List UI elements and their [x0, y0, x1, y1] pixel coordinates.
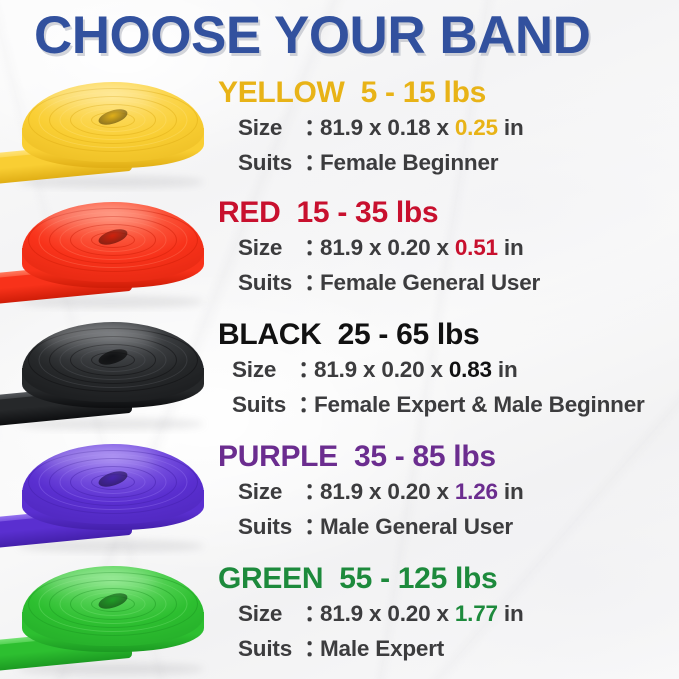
suits-label: Suits	[238, 638, 304, 661]
band-suits-line-green: Suits：Male Expert	[238, 638, 444, 661]
band-weight-range: 15 - 35 lbs	[297, 196, 439, 229]
choose-your-band-infographic: CHOOSE YOUR BAND YELLOW 5 - 15 lbs Size：…	[0, 0, 679, 679]
band-size-line-green: Size：81.9 x 0.20 x 1.77 in	[238, 603, 524, 626]
coiled-band-illustration-green	[0, 556, 212, 679]
size-prefix: 81.9 x 0.18 x	[320, 115, 449, 140]
coiled-band-illustration-black	[0, 312, 212, 434]
separator-colon: ：	[304, 272, 320, 295]
band-image-black	[0, 312, 212, 434]
band-text-purple: PURPLE 35 - 85 lbs Size：81.9 x 0.20 x 1.…	[212, 434, 679, 556]
page-title: CHOOSE YOUR BAND	[34, 9, 674, 62]
size-thickness-highlight: 0.51	[455, 235, 498, 260]
separator-colon: ：	[304, 152, 320, 175]
band-image-yellow	[0, 72, 212, 192]
size-prefix: 81.9 x 0.20 x	[314, 357, 443, 382]
band-heading-red: RED 15 - 35 lbs	[218, 198, 438, 228]
size-label: Size	[238, 117, 304, 140]
band-suits-line-red: Suits：Female General User	[238, 272, 540, 295]
size-thickness-highlight: 0.25	[455, 115, 498, 140]
size-thickness-highlight: 1.26	[455, 479, 498, 504]
band-suits-line-purple: Suits：Male General User	[238, 516, 513, 539]
band-row-yellow: YELLOW 5 - 15 lbs Size：81.9 x 0.18 x 0.2…	[0, 72, 679, 192]
separator-colon: ：	[304, 237, 320, 260]
band-row-black: BLACK 25 - 65 lbs Size：81.9 x 0.20 x 0.8…	[0, 312, 679, 434]
band-size-line-purple: Size：81.9 x 0.20 x 1.26 in	[238, 481, 524, 504]
band-heading-green: GREEN 55 - 125 lbs	[218, 564, 497, 594]
band-row-green: GREEN 55 - 125 lbs Size：81.9 x 0.20 x 1.…	[0, 556, 679, 679]
suits-label: Suits	[232, 394, 298, 417]
size-unit: in	[504, 115, 524, 140]
separator-colon: ：	[304, 117, 320, 140]
band-coil-body	[22, 444, 204, 524]
separator-colon: ：	[304, 516, 320, 539]
size-label: Size	[232, 359, 298, 382]
size-prefix: 81.9 x 0.20 x	[320, 235, 449, 260]
suits-value: Male General User	[320, 514, 513, 539]
size-thickness-highlight: 0.83	[449, 357, 492, 382]
band-text-black: BLACK 25 - 65 lbs Size：81.9 x 0.20 x 0.8…	[212, 312, 679, 434]
size-prefix: 81.9 x 0.20 x	[320, 601, 449, 626]
band-weight-range: 5 - 15 lbs	[361, 76, 486, 109]
band-row-red: RED 15 - 35 lbs Size：81.9 x 0.20 x 0.51 …	[0, 192, 679, 312]
size-label: Size	[238, 603, 304, 626]
band-name: GREEN	[218, 562, 323, 595]
size-unit: in	[504, 235, 524, 260]
separator-colon: ：	[304, 481, 320, 504]
band-suits-line-black: Suits：Female Expert & Male Beginner	[232, 394, 645, 417]
size-label: Size	[238, 237, 304, 260]
band-coil-body	[22, 322, 204, 402]
band-name: BLACK	[218, 318, 322, 351]
coiled-band-illustration-yellow	[0, 72, 212, 192]
band-heading-black: BLACK 25 - 65 lbs	[218, 320, 479, 350]
band-image-red	[0, 192, 212, 312]
band-text-red: RED 15 - 35 lbs Size：81.9 x 0.20 x 0.51 …	[212, 192, 679, 312]
coiled-band-illustration-red	[0, 192, 212, 312]
band-size-line-yellow: Size：81.9 x 0.18 x 0.25 in	[238, 117, 524, 140]
band-row-purple: PURPLE 35 - 85 lbs Size：81.9 x 0.20 x 1.…	[0, 434, 679, 556]
suits-value: Female Expert & Male Beginner	[314, 392, 645, 417]
band-suits-line-yellow: Suits：Female Beginner	[238, 152, 498, 175]
band-coil-body	[22, 566, 204, 646]
band-name: YELLOW	[218, 76, 345, 109]
band-image-purple	[0, 434, 212, 556]
band-weight-range: 55 - 125 lbs	[339, 562, 497, 595]
band-name: RED	[218, 196, 280, 229]
separator-colon: ：	[298, 359, 314, 382]
suits-label: Suits	[238, 516, 304, 539]
coiled-band-illustration-purple	[0, 434, 212, 556]
band-weight-range: 35 - 85 lbs	[354, 440, 496, 473]
size-label: Size	[238, 481, 304, 504]
band-coil-body	[22, 202, 204, 282]
band-image-green	[0, 556, 212, 679]
size-thickness-highlight: 1.77	[455, 601, 498, 626]
suits-value: Female General User	[320, 270, 540, 295]
suits-value: Female Beginner	[320, 150, 498, 175]
size-unit: in	[498, 357, 518, 382]
band-name: PURPLE	[218, 440, 338, 473]
band-text-yellow: YELLOW 5 - 15 lbs Size：81.9 x 0.18 x 0.2…	[212, 72, 679, 192]
band-weight-range: 25 - 65 lbs	[338, 318, 480, 351]
separator-colon: ：	[298, 394, 314, 417]
band-size-line-black: Size：81.9 x 0.20 x 0.83 in	[232, 359, 518, 382]
suits-label: Suits	[238, 272, 304, 295]
separator-colon: ：	[304, 603, 320, 626]
size-prefix: 81.9 x 0.20 x	[320, 479, 449, 504]
band-heading-yellow: YELLOW 5 - 15 lbs	[218, 78, 486, 108]
band-size-line-red: Size：81.9 x 0.20 x 0.51 in	[238, 237, 524, 260]
suits-label: Suits	[238, 152, 304, 175]
band-text-green: GREEN 55 - 125 lbs Size：81.9 x 0.20 x 1.…	[212, 556, 679, 679]
size-unit: in	[504, 479, 524, 504]
band-heading-purple: PURPLE 35 - 85 lbs	[218, 442, 496, 472]
size-unit: in	[504, 601, 524, 626]
separator-colon: ：	[304, 638, 320, 661]
band-coil-body	[22, 82, 204, 162]
suits-value: Male Expert	[320, 636, 444, 661]
